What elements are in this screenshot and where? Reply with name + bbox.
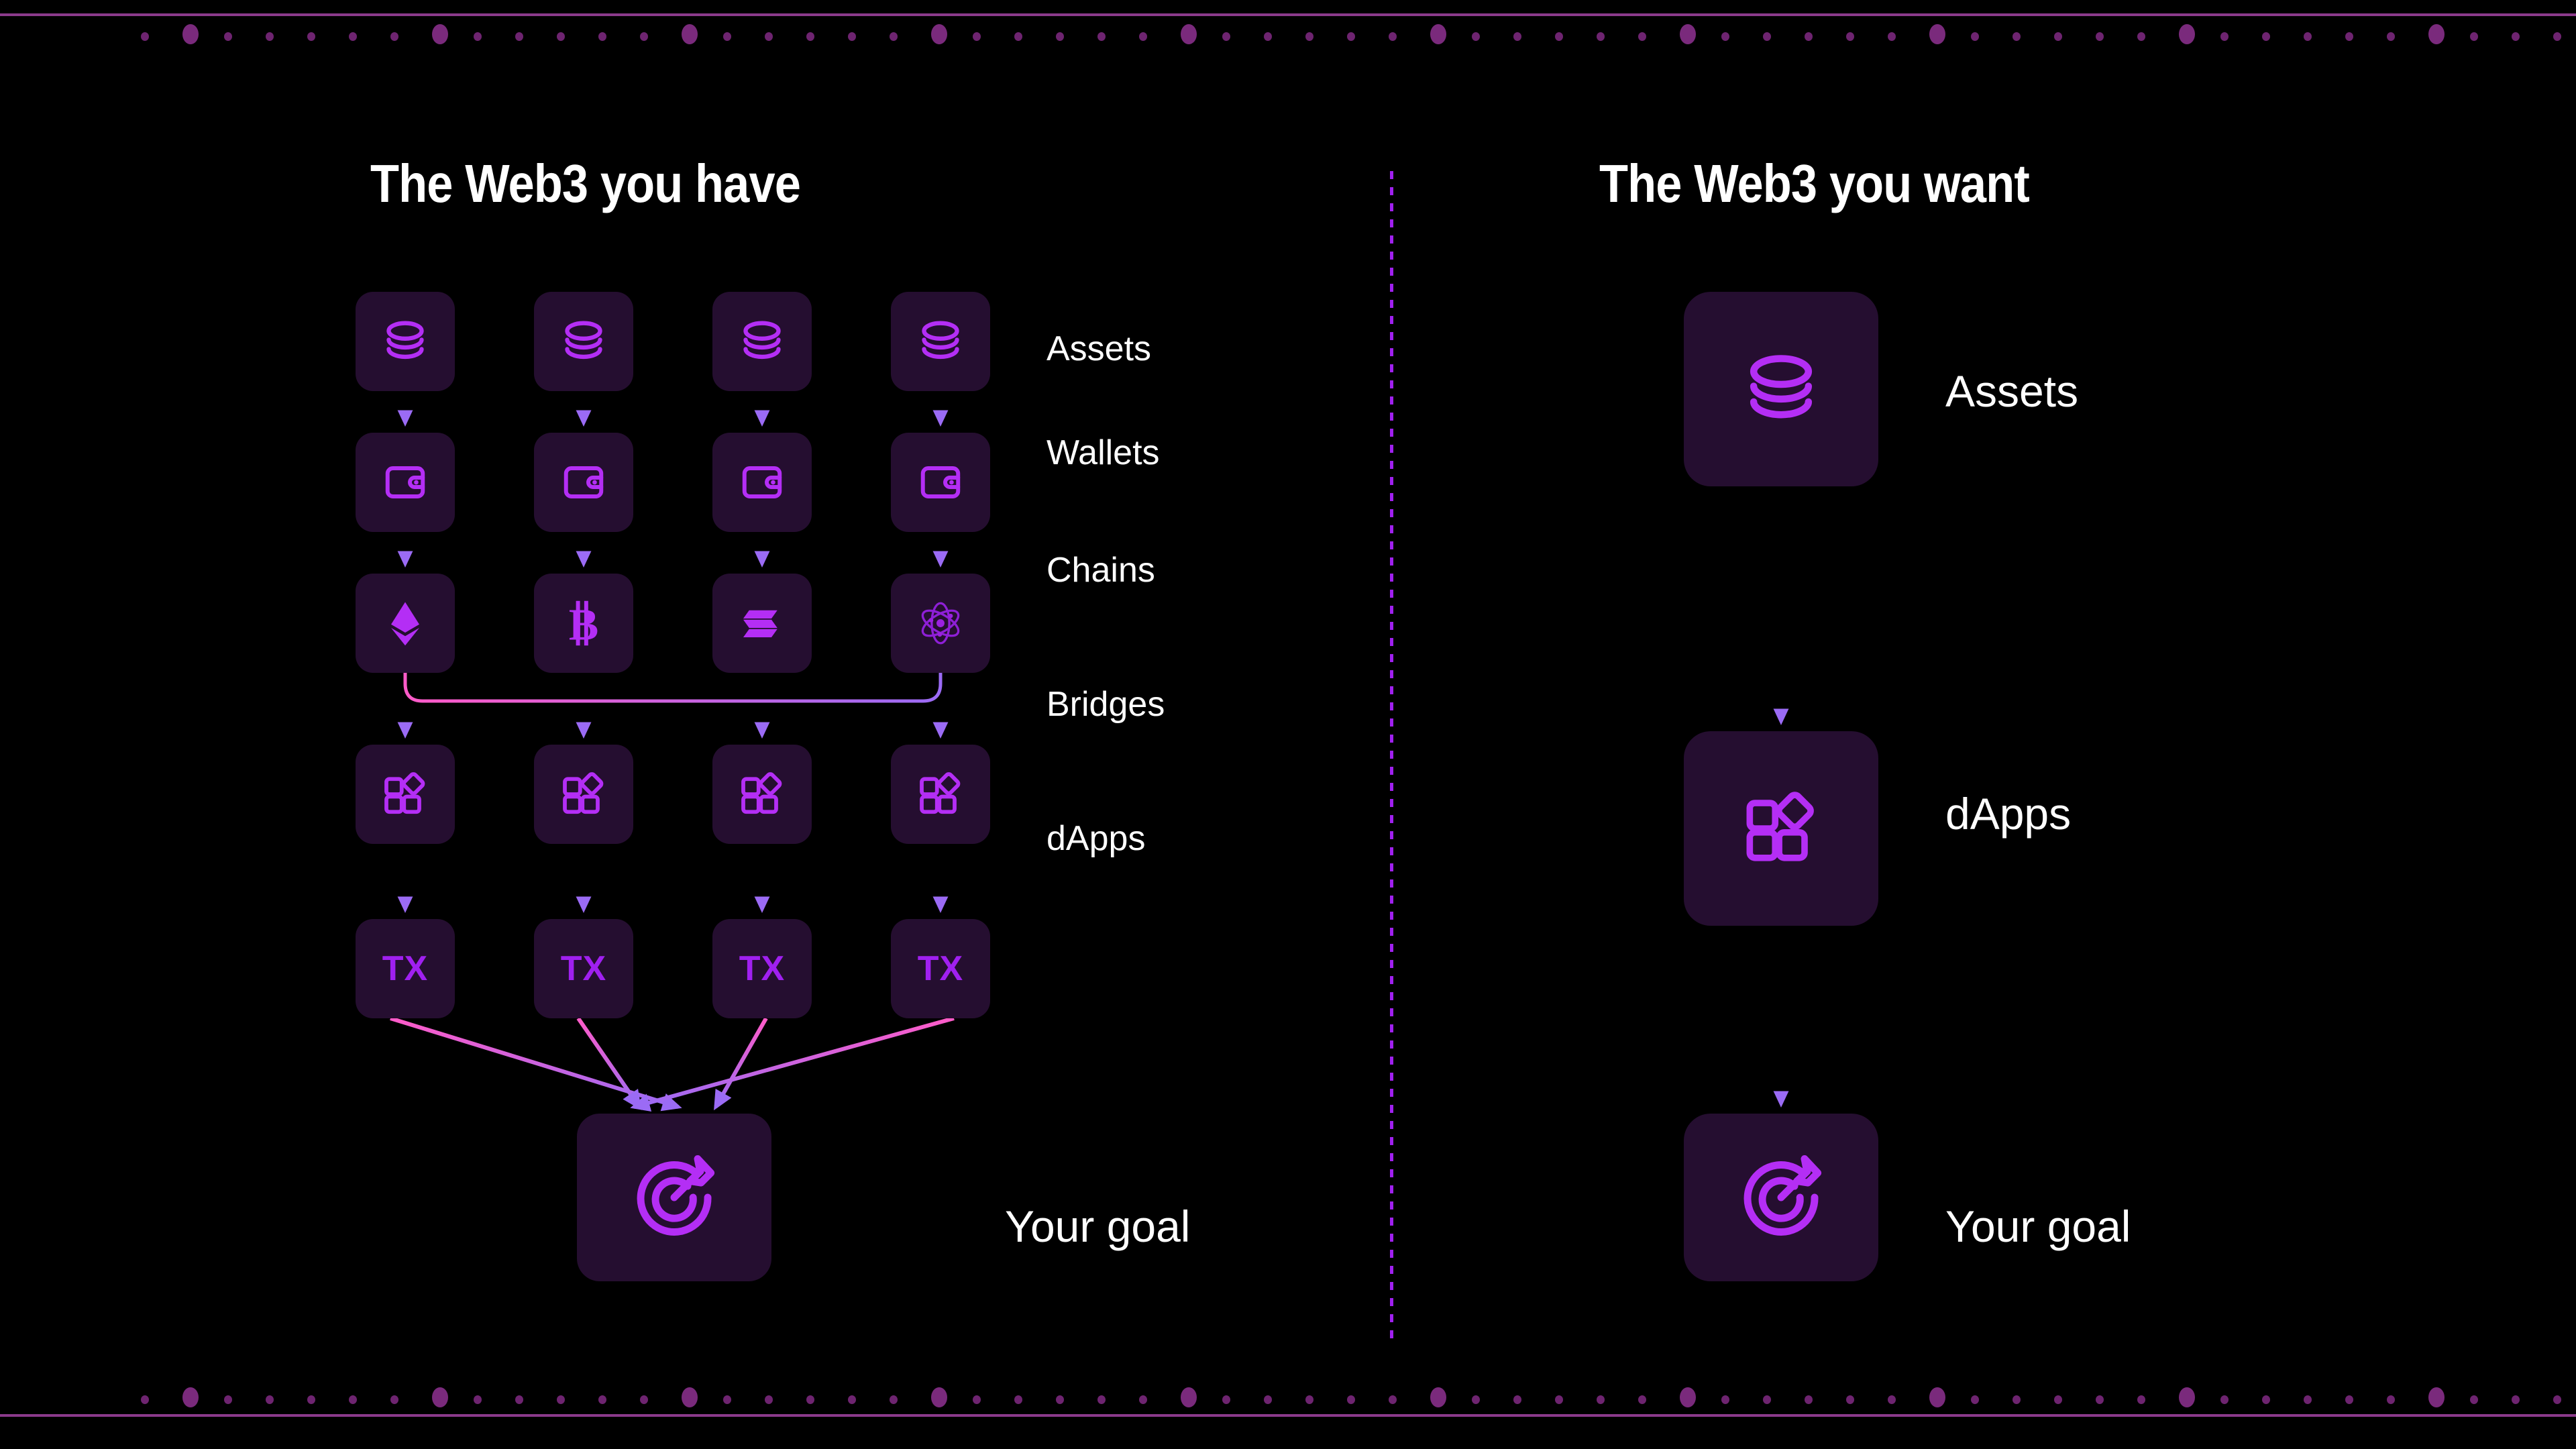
left-row-label-chains: Chains	[1046, 550, 1155, 590]
ethereum-icon	[377, 595, 433, 651]
right-step-label-assets: Assets	[1945, 366, 2078, 417]
left-panel-title: The Web3 you have	[370, 153, 800, 215]
left-node-wallets-2[interactable]	[534, 433, 633, 532]
coins-icon	[1734, 342, 1828, 436]
right-node-coins[interactable]	[1684, 292, 1878, 486]
coins-icon	[377, 313, 433, 370]
left-node-assets-4[interactable]	[891, 292, 990, 391]
left-goal-box[interactable]	[577, 1114, 771, 1281]
left-node-chains-3[interactable]	[712, 574, 812, 673]
left-node-chains-2[interactable]: B	[534, 574, 633, 673]
dapps-icon	[377, 766, 433, 822]
left-node-dapps-3[interactable]	[712, 745, 812, 844]
bottom-border-line	[0, 1414, 2576, 1417]
left-node-assets-3[interactable]	[712, 292, 812, 391]
cosmos-icon	[912, 595, 969, 651]
right-step-label-dapps: dApps	[1945, 788, 2071, 839]
target-icon	[1731, 1147, 1831, 1248]
top-border-line	[0, 13, 2576, 16]
coins-icon	[912, 313, 969, 370]
left-node-chains-4[interactable]	[891, 574, 990, 673]
left-node-wallets-3[interactable]	[712, 433, 812, 532]
left-node-dapps-2[interactable]	[534, 745, 633, 844]
left-node-dapps-1[interactable]	[356, 745, 455, 844]
tx-label: TX	[918, 949, 963, 989]
left-goal-label: Your goal	[1005, 1201, 1190, 1252]
left-node-tx-1[interactable]: TX	[356, 919, 455, 1018]
left-node-dapps-4[interactable]	[891, 745, 990, 844]
solana-icon	[734, 595, 790, 651]
dapps-icon	[555, 766, 612, 822]
svg-text:B: B	[569, 601, 598, 650]
left-node-chains-1[interactable]	[356, 574, 455, 673]
left-node-assets-2[interactable]	[534, 292, 633, 391]
tx-label: TX	[382, 949, 428, 989]
wallet-icon	[555, 454, 612, 511]
wallet-icon	[734, 454, 790, 511]
panel-divider	[1390, 171, 1393, 1342]
connector-layer	[0, 0, 2576, 1449]
left-node-wallets-1[interactable]	[356, 433, 455, 532]
right-node-target[interactable]	[1684, 1114, 1878, 1281]
tx-label: TX	[739, 949, 785, 989]
left-node-assets-1[interactable]	[356, 292, 455, 391]
left-node-tx-3[interactable]: TX	[712, 919, 812, 1018]
wallet-icon	[377, 454, 433, 511]
dapps-icon	[1734, 782, 1828, 875]
target-icon	[624, 1147, 724, 1248]
left-row-label-wallets: Wallets	[1046, 433, 1160, 473]
coins-icon	[555, 313, 612, 370]
right-panel-title: The Web3 you want	[1599, 153, 2029, 215]
bitcoin-icon: B	[555, 595, 612, 651]
diagram-canvas: The Web3 you have The Web3 you want	[0, 0, 2576, 1449]
left-row-label-dapps: dApps	[1046, 818, 1145, 859]
left-node-tx-4[interactable]: TX	[891, 919, 990, 1018]
bottom-dot-pattern	[0, 1381, 2576, 1407]
wallet-icon	[912, 454, 969, 511]
left-node-tx-2[interactable]: TX	[534, 919, 633, 1018]
top-dot-pattern	[0, 24, 2576, 51]
right-step-label-your-goal: Your goal	[1945, 1201, 2131, 1252]
dapps-icon	[734, 766, 790, 822]
coins-icon	[734, 313, 790, 370]
left-row-label-bridges: Bridges	[1046, 684, 1165, 724]
dapps-icon	[912, 766, 969, 822]
tx-label: TX	[561, 949, 606, 989]
right-node-dapps[interactable]	[1684, 731, 1878, 926]
left-row-label-assets: Assets	[1046, 329, 1151, 369]
left-node-wallets-4[interactable]	[891, 433, 990, 532]
